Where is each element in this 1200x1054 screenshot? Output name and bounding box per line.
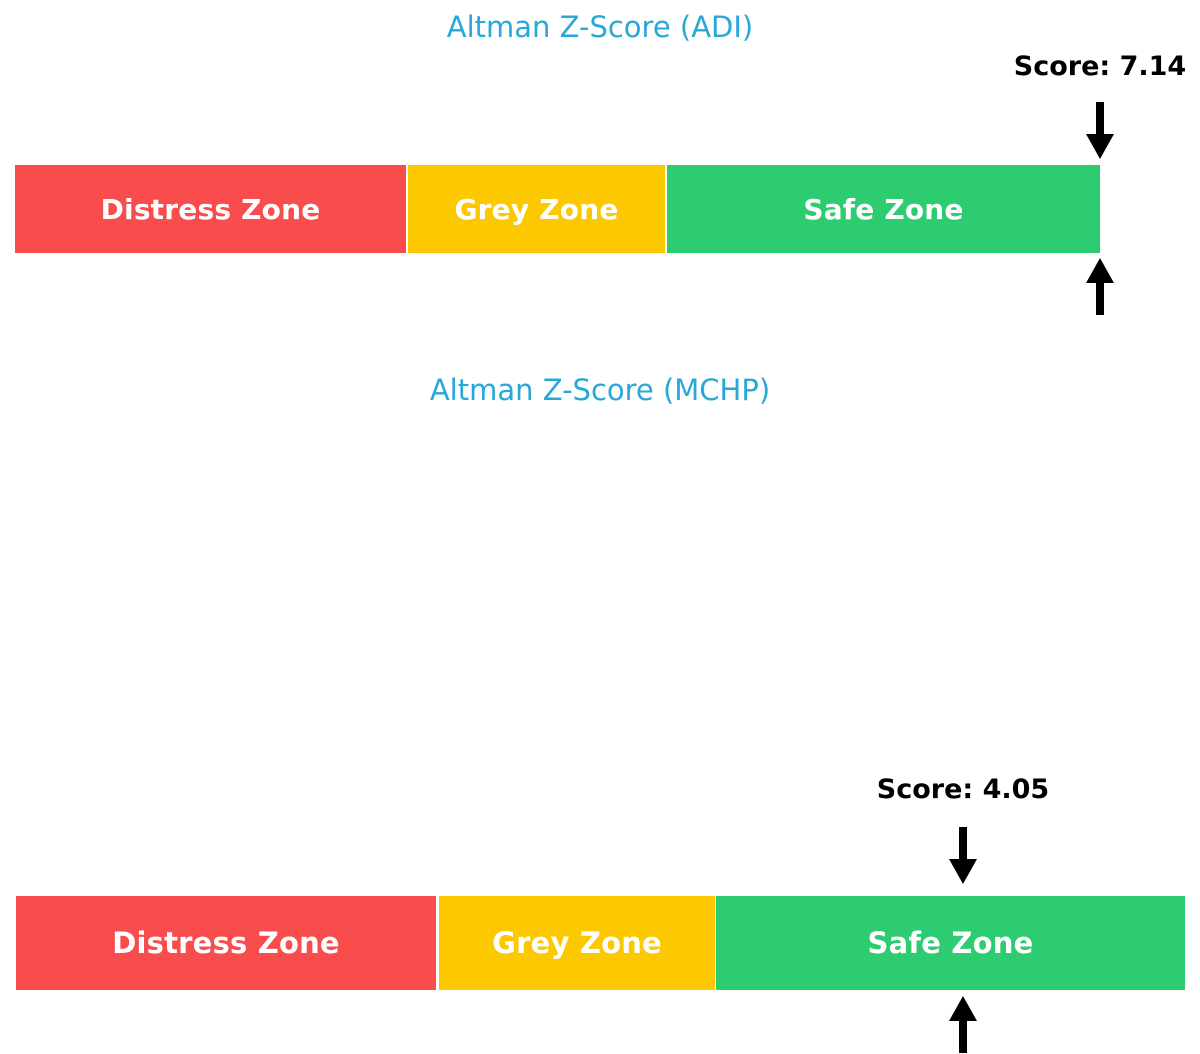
zone-label-safe-mchp: Safe Zone: [868, 926, 1034, 960]
zone-label-distress-adi: Distress Zone: [101, 193, 321, 226]
arrow-down-icon: [1083, 102, 1117, 160]
zone-bar-mchp: Distress Zone Grey Zone Safe Zone: [16, 896, 1185, 990]
zone-label-safe-adi: Safe Zone: [803, 193, 963, 226]
zone-distress-adi: Distress Zone: [15, 165, 406, 253]
altman-zscore-chart-adi: Altman Z-Score (ADI) Score: 7.14 Distres…: [0, 0, 1200, 360]
chart-title-adi: Altman Z-Score (ADI): [0, 10, 1200, 44]
zone-safe-mchp: Safe Zone: [716, 896, 1185, 990]
score-label-adi: Score: 7.14: [1014, 51, 1186, 82]
zone-label-grey-mchp: Grey Zone: [492, 926, 662, 960]
arrow-up-icon: [946, 996, 980, 1054]
arrow-up-icon: [1083, 258, 1117, 316]
zone-grey-adi: Grey Zone: [408, 165, 665, 253]
zone-distress-mchp: Distress Zone: [16, 896, 436, 990]
arrow-down-icon: [946, 827, 980, 885]
zone-bar-adi: Distress Zone Grey Zone Safe Zone: [15, 165, 1100, 253]
chart-title-mchp: Altman Z-Score (MCHP): [0, 373, 1200, 407]
zone-grey-mchp: Grey Zone: [439, 896, 715, 990]
zone-label-grey-adi: Grey Zone: [454, 193, 618, 226]
zone-safe-adi: Safe Zone: [667, 165, 1100, 253]
zone-label-distress-mchp: Distress Zone: [112, 926, 340, 960]
altman-zscore-chart-mchp: Altman Z-Score (MCHP) Score: 4.05 Distre…: [0, 360, 1200, 746]
score-label-mchp: Score: 4.05: [877, 774, 1049, 805]
